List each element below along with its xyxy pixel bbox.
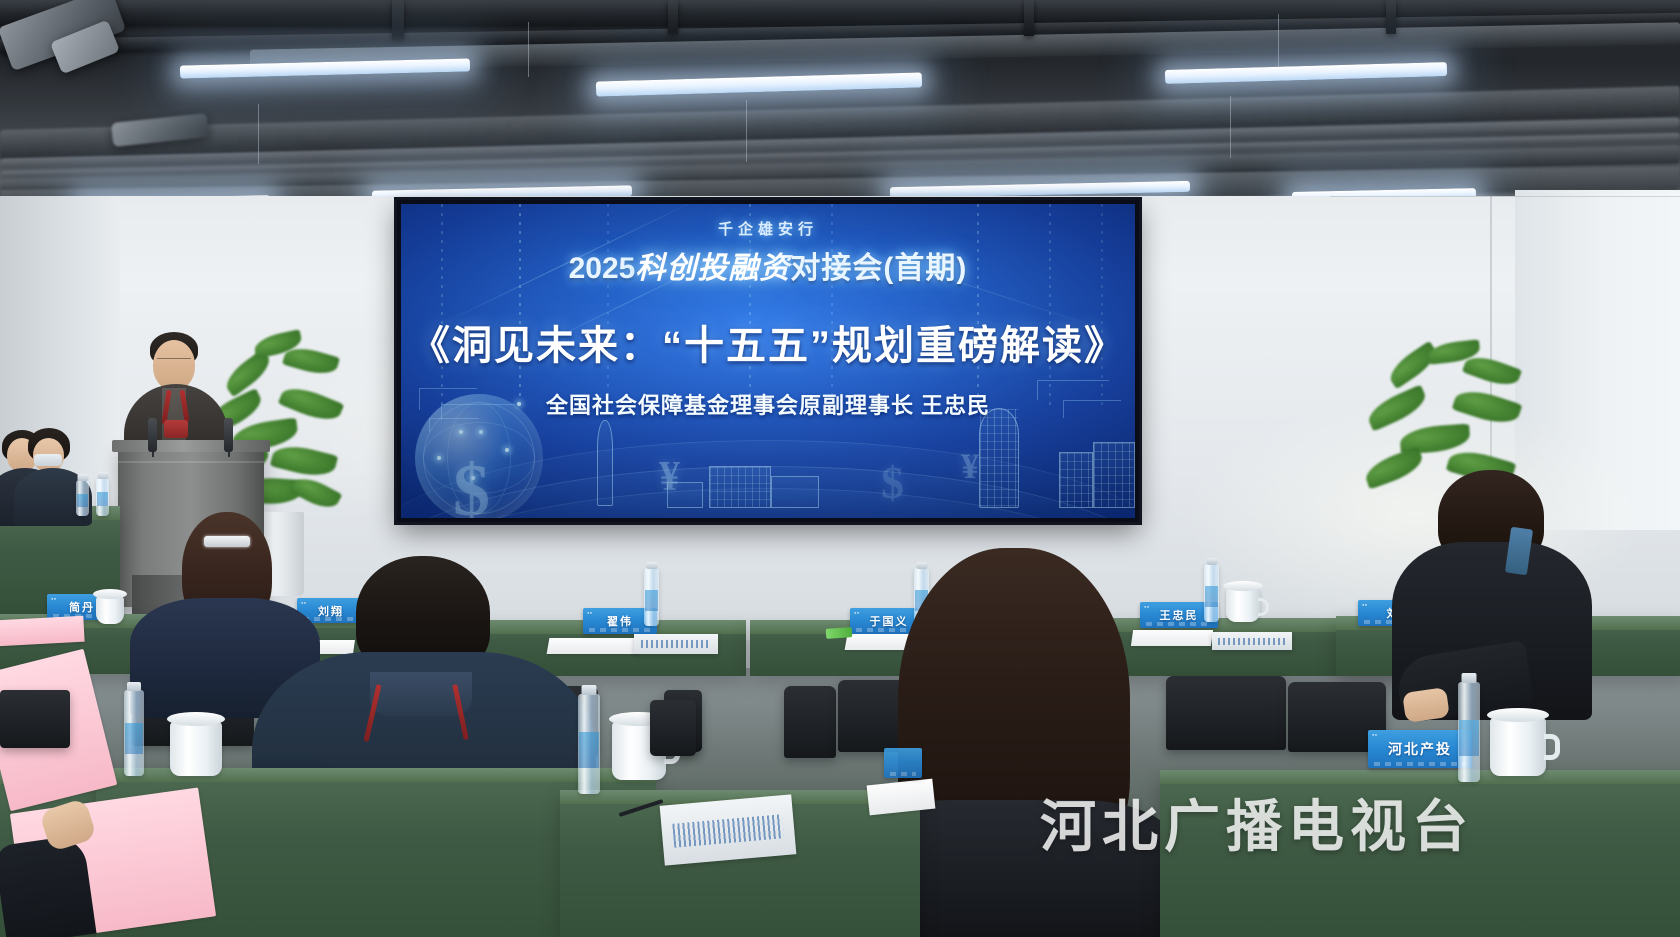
light-hanger (746, 100, 747, 162)
bottle-cap (1206, 558, 1217, 565)
person-arm (0, 834, 97, 937)
cup-handle (1544, 734, 1560, 760)
water-bottle (1458, 682, 1480, 782)
ceiling-rafter (1024, 0, 1034, 36)
screen-presentation-title: 《洞见未来：“十五五”规划重磅解读》 (401, 313, 1135, 371)
wall-seam (1330, 196, 1680, 197)
light-hanger (1230, 96, 1231, 158)
staff-person-2 (22, 428, 84, 520)
podium-top-surface (112, 440, 270, 452)
nameplate-subline (1374, 762, 1466, 766)
nameplate-name: 河北产投 (1388, 739, 1452, 759)
plant-leaf (270, 441, 338, 482)
screen-globe-node (459, 430, 463, 434)
screen-headline-accent: 科创投融资 (635, 252, 790, 285)
cup-lid (167, 712, 225, 726)
speaker-badge (164, 420, 188, 438)
water-bottle (124, 690, 144, 776)
nameplate-logo: ●● (51, 596, 56, 601)
tea-cup (1490, 718, 1546, 776)
bottle-label (645, 590, 658, 611)
attendee-hand-foreground (0, 800, 170, 937)
screen-headline-tail: 对接会(首期) (790, 252, 967, 285)
water-bottle (96, 478, 109, 516)
bottle-cap (127, 682, 141, 691)
screen-surface: $ $ ¥ ¥ (401, 204, 1135, 518)
bottle-cap (1462, 673, 1477, 683)
screen-globe-node (505, 448, 509, 452)
plant-leaf (290, 472, 343, 514)
screen-text-block: 千企雄安行 2025科创投融资对接会(首期) 《洞见未来：“十五五”规划重磅解读… (401, 218, 1135, 420)
hair-clip (204, 536, 250, 547)
nameplate-subline (890, 772, 916, 776)
microphone-left (148, 418, 157, 452)
chair-front-2 (650, 700, 696, 756)
cup-lid (93, 589, 127, 599)
light-hanger (528, 22, 529, 77)
nameplate-logo: ●● (1372, 732, 1377, 737)
nameplate-partial (884, 748, 922, 778)
ceiling-rafter (1386, 0, 1396, 34)
plant-leaf (1462, 351, 1522, 391)
water-bottle (578, 694, 600, 794)
chair-back-6 (1166, 676, 1286, 750)
program-booklet (634, 634, 718, 654)
chair-front-1 (0, 690, 70, 748)
plant-leaf (1452, 384, 1523, 429)
nameplate-name: 翟伟 (607, 613, 633, 629)
face-mask (34, 454, 62, 466)
booklet-print (1218, 638, 1285, 645)
green-marker-card (826, 627, 853, 639)
document-paper (0, 616, 85, 647)
nameplate-hebei-chantou: ●● 河北产投 (1368, 730, 1472, 768)
bottle-label (1205, 586, 1218, 607)
program-booklet (1212, 632, 1292, 650)
conference-hall-photo: $ $ ¥ ¥ (0, 0, 1680, 937)
tea-cup (1226, 588, 1260, 622)
table-front-edge (1160, 770, 1680, 784)
ceiling-rafter (392, 0, 404, 40)
bottle-label (579, 732, 599, 768)
light-hanger (258, 104, 259, 164)
microphone-right (224, 418, 233, 452)
screen-globe-node (437, 456, 441, 460)
nameplate-name: 简丹 (69, 599, 95, 615)
screen-eyebrow-text: 千企雄安行 (401, 218, 1135, 239)
program-booklet (660, 794, 797, 865)
plant-leaf (1364, 384, 1430, 431)
nameplate-logo: ●● (1362, 602, 1367, 607)
cup-lid (1487, 708, 1549, 722)
bottle-cap (582, 685, 597, 695)
cup-lid (1223, 581, 1263, 591)
speaker-glasses (157, 358, 191, 365)
bottle-cap (77, 474, 88, 481)
bottle-label (77, 494, 88, 507)
podium-trim (118, 461, 264, 463)
water-bottle (644, 568, 659, 626)
water-bottle (1204, 564, 1219, 622)
screen-headline-year: 2025 (569, 252, 636, 285)
ceiling-rafter (668, 0, 678, 34)
bottle-label (1459, 720, 1479, 756)
water-bottle (76, 480, 89, 516)
led-presentation-screen: $ $ ¥ ¥ (397, 200, 1139, 522)
screen-speaker-subtitle: 全国社会保障基金理事会原副理事长 王忠民 (401, 388, 1135, 420)
tea-cup (96, 596, 124, 624)
tea-cup (170, 722, 222, 776)
speaker-head (153, 340, 195, 390)
bottle-cap (97, 472, 108, 479)
booklet-print (641, 640, 712, 648)
nameplate-subline (589, 628, 651, 632)
screen-headline: 2025科创投融资对接会(首期) (401, 243, 1135, 287)
bottle-label (125, 723, 143, 754)
booklet-print (672, 814, 785, 848)
bottle-cap (646, 562, 657, 569)
bottle-label (97, 492, 108, 506)
chair-back-4 (784, 686, 836, 758)
front-table-right (1160, 770, 1680, 937)
